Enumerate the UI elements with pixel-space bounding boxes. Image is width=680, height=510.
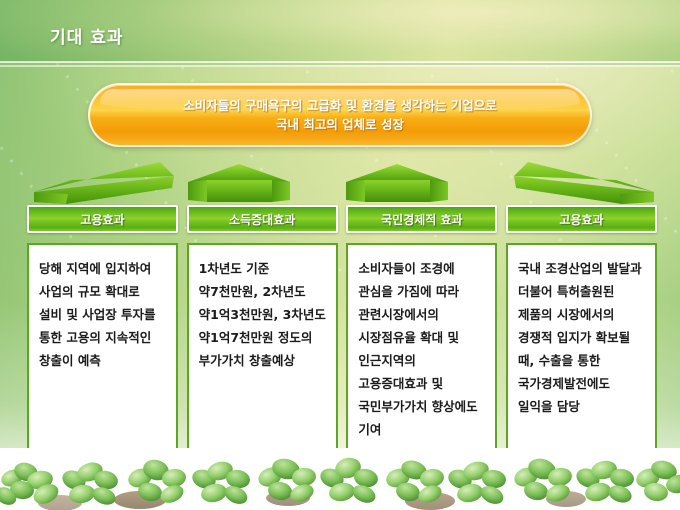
column-header-label-2: 소득증대효과 xyxy=(229,211,295,228)
effect-column-2: 소득증대효과 1차년도 기준 약7천만원, 2차년도 약1억3천만원, 3차년도… xyxy=(187,205,338,453)
header-divider xyxy=(0,61,680,69)
column-header-label-3: 국민경제적 효과 xyxy=(381,211,462,228)
column-header-3[interactable]: 국민경제적 효과 xyxy=(346,205,497,233)
foliage-leaves-icon xyxy=(0,448,680,510)
slide-canvas: 기대 효과 소비자들의 구매욕구의 고급화 및 환경을 생각하는 기업으로 국내… xyxy=(0,0,680,510)
effects-columns: 고용효과 당해 지역에 입지하여 사업의 규모 확대로 설비 및 사업장 투자를… xyxy=(27,205,657,453)
column-header-label-1: 고용효과 xyxy=(80,211,124,228)
effect-column-3: 국민경제적 효과 소비자들이 조경에 관심을 가짐에 따라 관련시장에서의 시장… xyxy=(346,205,497,453)
column-body-text-3: 소비자들이 조경에 관심을 가짐에 따라 관련시장에서의 시장점유율 확대 및 … xyxy=(358,257,486,441)
column-header-4[interactable]: 고용효과 xyxy=(506,205,657,233)
arrow-up-2 xyxy=(188,164,290,202)
column-body-1: 당해 지역에 입지하여 사업의 규모 확대로 설비 및 사업장 투자를 통한 고… xyxy=(27,243,178,453)
effect-column-4: 고용효과 국내 조경산업의 발달과 더불어 특허출원된 제품의 시장에서의 경쟁… xyxy=(506,205,657,453)
goal-banner-line-2: 국내 최고의 업체로 성장 xyxy=(276,115,404,134)
column-body-text-4: 국내 조경산업의 발달과 더불어 특허출원된 제품의 시장에서의 경쟁적 입지가… xyxy=(518,257,646,418)
arrow-up-3 xyxy=(346,164,448,202)
column-header-label-4: 고용효과 xyxy=(559,211,603,228)
goal-banner: 소비자들의 구매욕구의 고급화 및 환경을 생각하는 기업으로 국내 최고의 업… xyxy=(88,83,592,147)
goal-banner-line-1: 소비자들의 구매욕구의 고급화 및 환경을 생각하는 기업으로 xyxy=(183,96,497,115)
foliage-band xyxy=(0,448,680,510)
effect-column-1: 고용효과 당해 지역에 입지하여 사업의 규모 확대로 설비 및 사업장 투자를… xyxy=(27,205,178,453)
column-body-3: 소비자들이 조경에 관심을 가짐에 따라 관련시장에서의 시장점유율 확대 및 … xyxy=(346,243,497,453)
column-body-text-2: 1차년도 기준 약7천만원, 2차년도 약1억3천만원, 3차년도 약1억7천만… xyxy=(199,257,327,372)
arrow-row xyxy=(0,158,680,210)
column-body-4: 국내 조경산업의 발달과 더불어 특허출원된 제품의 시장에서의 경쟁적 입지가… xyxy=(506,243,657,453)
arrow-up-right-1 xyxy=(34,162,174,204)
column-header-2[interactable]: 소득증대효과 xyxy=(187,205,338,233)
column-body-text-1: 당해 지역에 입지하여 사업의 규모 확대로 설비 및 사업장 투자를 통한 고… xyxy=(39,257,167,372)
page-title: 기대 효과 xyxy=(50,23,123,48)
column-body-2: 1차년도 기준 약7천만원, 2차년도 약1억3천만원, 3차년도 약1억7천만… xyxy=(187,243,338,453)
column-header-1[interactable]: 고용효과 xyxy=(27,205,178,233)
arrow-up-left-4 xyxy=(514,162,654,204)
